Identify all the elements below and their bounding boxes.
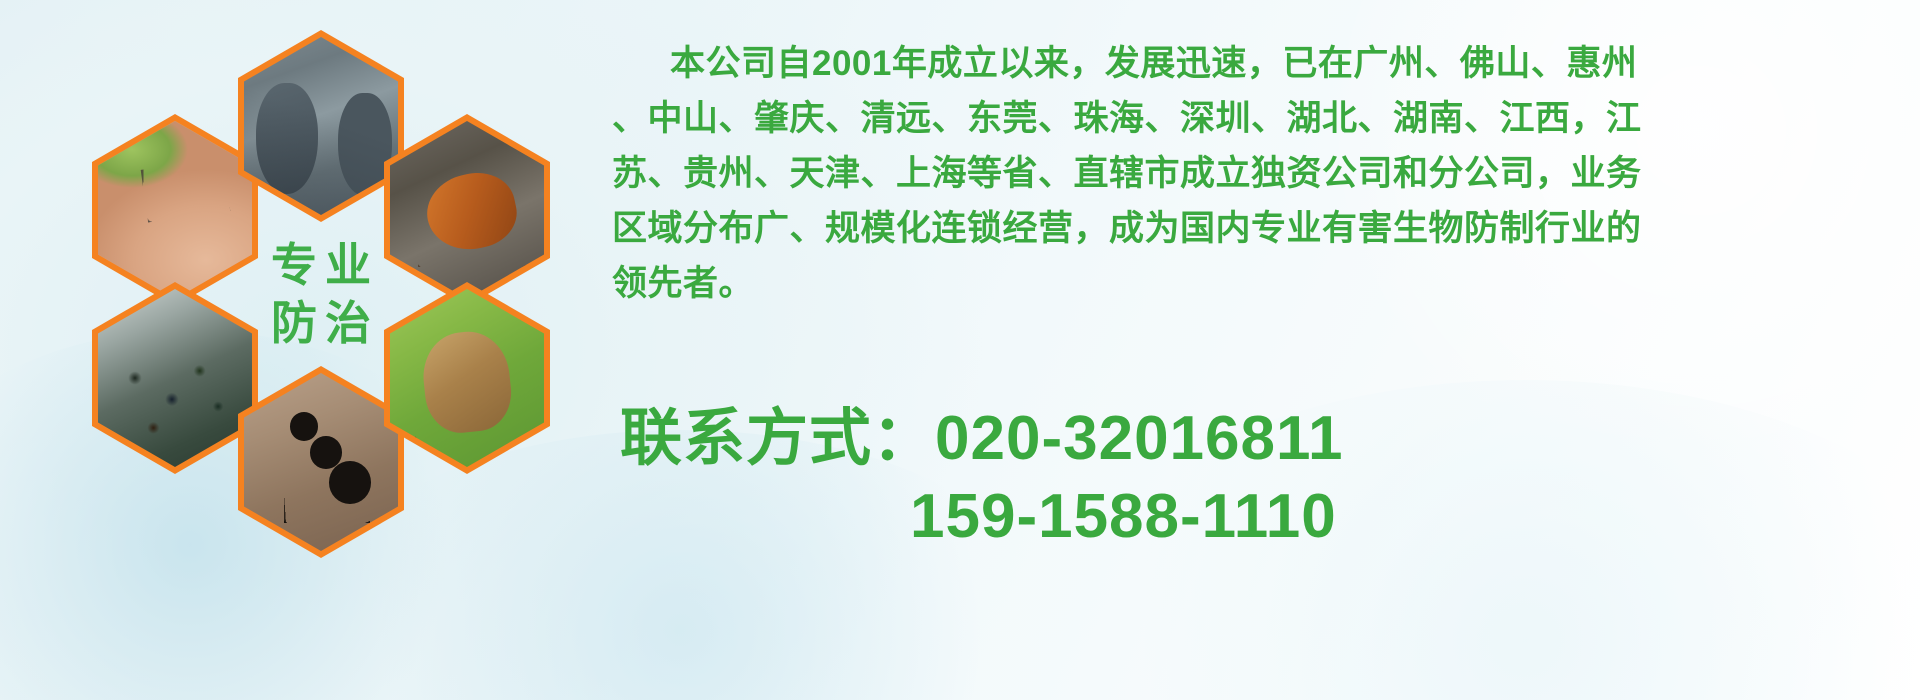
contact-label: 联系方式： — [620, 404, 935, 473]
hex-tile-ant — [238, 366, 404, 558]
mosquito-photo — [98, 121, 252, 299]
hex-tile-slogan: 专业 防治 — [238, 198, 404, 390]
rats-photo — [244, 37, 398, 215]
slogan-group: 专业 防治 — [244, 205, 398, 383]
hex-tile-rats — [238, 30, 404, 222]
flies-photo — [98, 289, 252, 467]
intro-line-1: 本公司自2001年成立以来，发展迅速，已在广州、佛山、惠州 — [612, 36, 1912, 91]
hex-tile-flies — [92, 282, 258, 474]
cockroach-photo — [390, 121, 544, 299]
hex-tile-stink-bug — [384, 282, 550, 474]
hex-inner-rats — [244, 37, 398, 215]
contact-primary-line: 联系方式：020-32016811 — [620, 400, 1920, 478]
intro-line-5: 领先者。 — [612, 256, 1912, 311]
contact-block: 联系方式：020-32016811 159-1588-1110 — [620, 400, 1920, 556]
slogan-line-1: 专业 — [263, 241, 379, 289]
contact-secondary-line: 159-1588-1110 — [620, 478, 1920, 556]
ant-photo — [244, 373, 398, 551]
hex-tile-mosquito — [92, 114, 258, 306]
hex-inner-slogan: 专业 防治 — [244, 205, 398, 383]
hex-inner-mosquito — [98, 121, 252, 299]
hex-tile-cockroach — [384, 114, 550, 306]
intro-line-2: 、中山、肇庆、清远、东莞、珠海、深圳、湖北、湖南、江西，江 — [612, 91, 1912, 146]
hex-inner-flies — [98, 289, 252, 467]
phone-primary[interactable]: 020-32016811 — [935, 404, 1344, 473]
pest-control-banner: 专业 防治 本公司自2001年成立以来，发展迅速，已在广州、佛山、惠州 、中山、… — [0, 0, 1920, 700]
hex-inner-cockroach — [390, 121, 544, 299]
intro-line-4: 区域分布广、规模化连锁经营，成为国内专业有害生物防制行业的 — [612, 201, 1912, 256]
slogan-line-2: 防治 — [263, 299, 379, 347]
stink-bug-photo — [390, 289, 544, 467]
phone-secondary[interactable]: 159-1588-1110 — [910, 482, 1337, 551]
hex-inner-stink-bug — [390, 289, 544, 467]
hex-inner-ant — [244, 373, 398, 551]
intro-line-3: 苏、贵州、天津、上海等省、直辖市成立独资公司和分公司，业务 — [612, 146, 1912, 201]
company-intro-paragraph: 本公司自2001年成立以来，发展迅速，已在广州、佛山、惠州 、中山、肇庆、清远、… — [612, 36, 1912, 311]
hexagon-photo-collage: 专业 防治 — [92, 14, 592, 574]
